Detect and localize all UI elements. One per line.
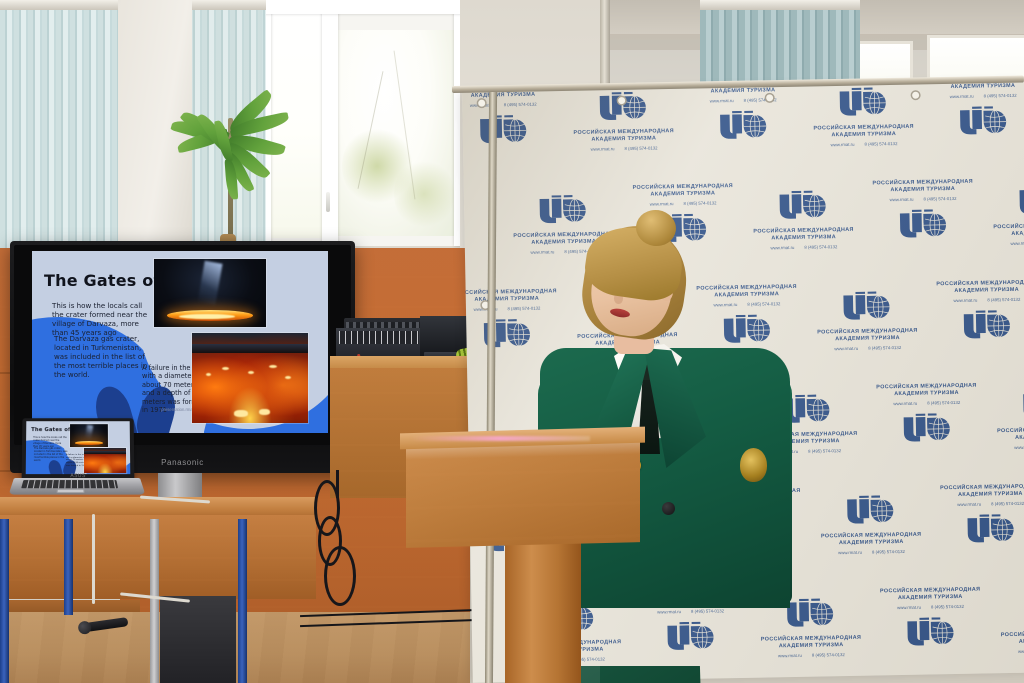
banner-phone: 8 (495) 574-0132 [868,345,901,351]
speaker-jacket-button [662,502,675,515]
window-pane-right [336,30,456,236]
banner-logo-tile: РОССИЙСКАЯ МЕЖДУНАРОДНАЯ АКАДЕМИЯ ТУРИЗМ… [915,483,1024,553]
banner-website: www.rmat.ru [1018,648,1024,653]
cable-coil [324,546,356,606]
crater-glow-core [179,314,235,319]
conference-room-photo: The Gates of the Hell This is how the lo… [0,0,1024,683]
tv-bezel: The Gates of the Hell This is how the lo… [14,245,351,445]
crater-ridge [192,344,308,353]
potted-plant [150,62,310,262]
banner-phone: 8 (495) 574-0132 [624,145,657,151]
banner-logo-tile: РОССИЙСКАЯ МЕЖДУНАРОДНАЯ АКАДЕМИЯ ТУРИЗМ… [975,584,1024,654]
banner-org-line-2: АКАДЕМИЯ ТУРИЗМА [912,286,1024,296]
slide-paragraph-1: This is how the locals call the crater f… [52,301,148,337]
academy-logo-icon [957,106,1010,136]
academy-logo-icon [905,617,958,647]
academy-logo-icon [844,495,897,525]
speaker-shoulder-patch [740,448,767,482]
academy-logo-icon [597,91,650,121]
ember [269,365,277,368]
laptop-trackpad[interactable] [57,489,85,493]
banner-logo-tile: РОССИЙСКАЯ МЕЖДУНАРОДНАЯ АКАДЕМИЯ ТУРИЗМ… [912,279,1024,349]
laptop-keyboard[interactable] [21,480,118,488]
banner-website: www.rmat.ru [1010,240,1024,245]
slide-paragraph-2: The Darvaza gas crater, located in Turkm… [54,334,150,379]
desk-leg-gray [150,519,159,683]
fiery-crater-photo [192,333,308,423]
ember [206,373,211,376]
desk-leg-right [238,519,247,683]
ember [248,371,254,374]
banner-phone: 8 (495) 574-0132 [812,652,845,658]
window-frame-top [262,0,462,14]
banner-grommet [478,100,485,107]
outside-foliage-2 [394,158,454,230]
academy-logo-icon [1017,186,1024,216]
laptop-lid: The Gates of the Hell This is how the lo… [22,418,135,480]
banner-website: www.rmat.ru [834,345,858,350]
banner-website: www.rmat.ru [591,146,615,151]
podium-light-reflection [410,436,590,441]
laptop-keyboard-base[interactable] [9,478,146,495]
desk-leg-mid [64,519,73,615]
academy-logo-icon [1021,390,1024,420]
academy-logo-icon [784,598,837,628]
banner-logo-tile: РОССИЙСКАЯ МЕЖДУНАРОДНАЯ АКАДЕМИЯ ТУРИЗМ… [908,82,1024,146]
window-blinds-left[interactable] [0,0,120,248]
night-sky-glow [85,425,93,440]
night-sky-glow [198,260,223,305]
window-mullion [322,0,338,246]
banner-logo-tile: РОССИЙСКАЯ МЕЖДУНАРОДНАЯ АКАДЕМИЯ ТУРИЗМ… [971,380,1024,450]
ember [285,376,291,379]
crater-ridge [84,451,126,454]
slide-on-tv: The Gates of the Hell This is how the lo… [32,251,328,433]
slide-on-laptop: The Gates of the Hell This is how the lo… [26,421,131,474]
banner-phone: 8 (495) 574-0132 [864,141,897,147]
ember-bright [234,410,248,417]
cable-run [336,470,339,498]
under-desk-equipment [160,596,236,683]
banner-grommet [912,92,919,99]
academy-logo-icon [841,291,894,321]
night-crater-photo [70,424,108,447]
academy-logo-icon [897,209,950,239]
banner-website: www.rmat.ru [831,141,855,146]
window-handle[interactable] [326,192,330,212]
ember [222,367,229,370]
mixer-faders[interactable] [339,331,419,344]
banner-website: www.rmat.ru [838,549,862,554]
banner-logo-tile: РОССИЙСКАЯ МЕЖДУНАРОДНАЯ АКАДЕМИЯ ТУРИЗМ… [968,176,1024,246]
banner-grommet [766,94,773,101]
slide-paragraph-2: The Darvaza gas crater, located in Turkm… [34,448,68,463]
podium-column [505,540,581,683]
white-cable [92,514,95,604]
crater-glow [75,441,104,445]
academy-logo-icon [837,87,890,117]
banner-phone: 8 (495) 574-0132 [804,244,837,250]
laptop[interactable]: The Gates of the Hell This is how the lo… [14,418,140,506]
banner-phone: 8 (495) 574-0132 [808,448,841,454]
fiery-crater-photo [84,448,126,473]
banner-phone: 8 (495) 574-0132 [872,549,905,555]
academy-logo-icon [901,413,954,443]
ember-bright [259,409,270,415]
academy-logo-icon [477,115,530,145]
desk-leg-left [0,519,9,683]
banner-org-line-2: АКАДЕМИЯ ТУРИЗМА [915,490,1024,500]
laptop-screen: The Gates of the Hell This is how the lo… [26,421,131,474]
banner-support-post-top [600,0,610,92]
banner-website: www.rmat.ru [1014,444,1024,449]
blinds-rail-right [700,0,860,10]
academy-logo-icon [717,111,770,141]
academy-logo-icon [965,514,1018,544]
night-crater-photo [154,259,266,327]
academy-logo-icon [961,310,1014,340]
